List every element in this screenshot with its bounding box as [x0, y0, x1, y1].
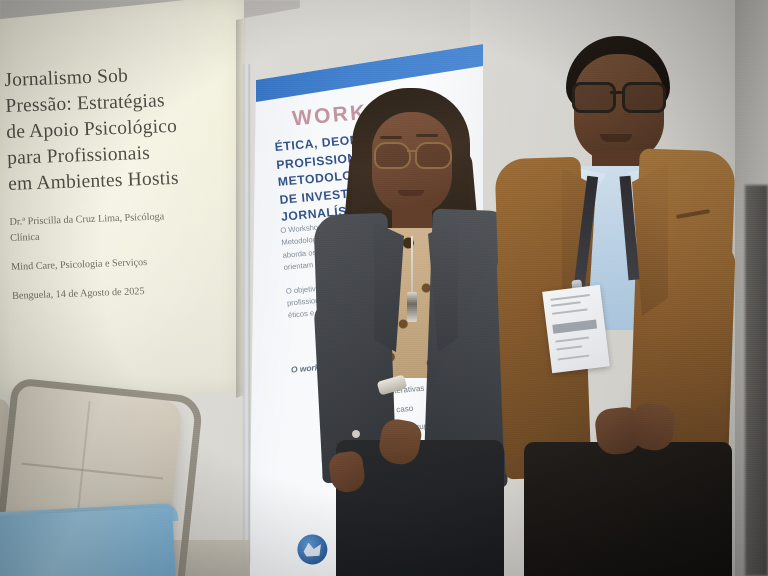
lens-right: [622, 82, 666, 113]
badge-text-line: [557, 355, 589, 361]
necklace-chain: [411, 236, 413, 298]
trousers: [524, 442, 732, 576]
event-badge: [542, 285, 610, 373]
eyebrow-right: [416, 134, 438, 137]
slide-title-line: Pressão: Estratégias: [5, 90, 165, 117]
badge-text-line: [552, 308, 588, 315]
ring: [352, 430, 360, 438]
glasses-bridge: [610, 91, 622, 94]
slide-place-date: Benguela, 14 de Agosto de 2025: [12, 281, 230, 305]
eyebrow-left: [380, 136, 402, 139]
lens-right: [415, 142, 452, 169]
slide-content: Jornalismo Sob Pressão: Estratégias de A…: [4, 60, 230, 305]
slide-subtext: Dr.ª Priscilla da Cruz Lima, Psicóloga C…: [9, 207, 230, 305]
slide-title-line: de Apoio Psicológico: [6, 116, 177, 143]
lens-left: [374, 142, 411, 169]
banner-stand-pole: [243, 64, 250, 564]
wall-corner-shadow: [745, 185, 768, 576]
globe-hand-icon: [296, 533, 329, 566]
badge-text-line: [555, 336, 589, 342]
badge-name-band: [552, 319, 597, 333]
necklace-pendant: [407, 292, 417, 322]
event-photo-scene: Jornalismo Sob Pressão: Estratégias de A…: [0, 0, 768, 576]
mouth: [600, 134, 632, 142]
slide-title-line: Jornalismo Sob: [4, 66, 128, 91]
projection-screen: Jornalismo Sob Pressão: Estratégias de A…: [0, 0, 244, 398]
pendant-necklace: [404, 236, 420, 322]
slide-organization: Mind Care, Psicologia e Serviços: [11, 252, 229, 276]
lens-left: [572, 82, 616, 113]
badge-text-line: [550, 294, 590, 301]
slide-title-line: em Ambientes Hostis: [8, 168, 179, 195]
badge-text-line: [551, 301, 581, 307]
badge-text-line: [556, 345, 582, 350]
mouth: [398, 190, 424, 196]
eyeglasses: [572, 82, 664, 108]
slide-title: Jornalismo Sob Pressão: Estratégias de A…: [4, 60, 227, 198]
table-cloth: [0, 507, 176, 576]
eyeglasses: [374, 142, 452, 166]
slide-title-line: para Profissionais: [7, 143, 150, 169]
